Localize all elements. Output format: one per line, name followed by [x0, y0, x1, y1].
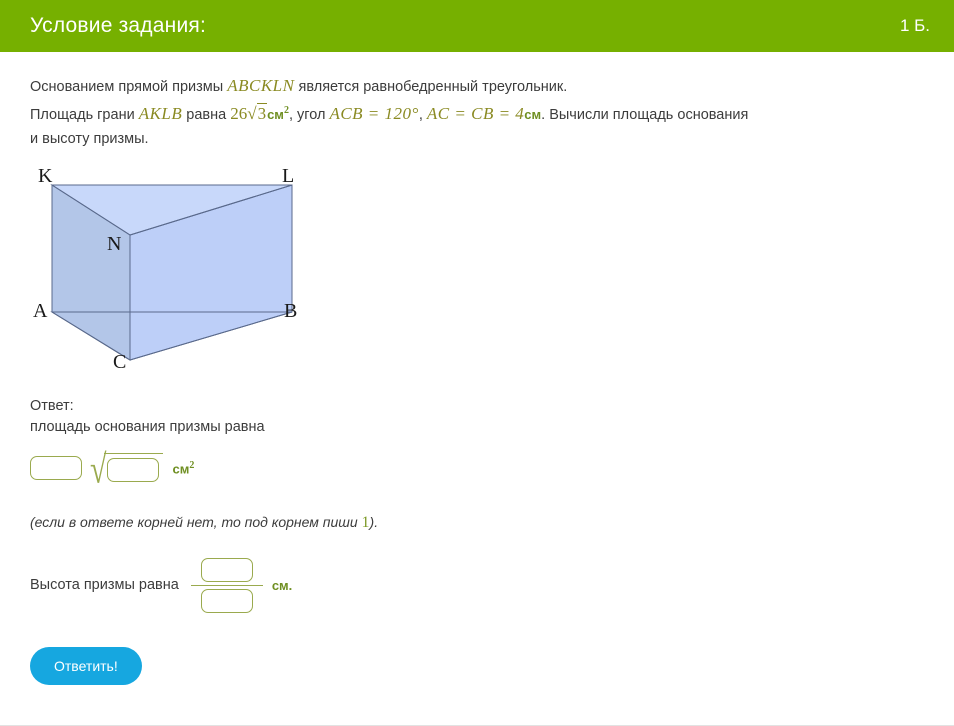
vertex-label-n: N: [107, 233, 121, 256]
page-title: Условие задания:: [30, 14, 206, 38]
base-area-unit-exponent: 2: [189, 460, 194, 471]
statement-line-2: Площадь грани AKLB равна 26√3см2, угол A…: [30, 99, 924, 127]
vertex-label-b: B: [284, 300, 297, 323]
statement-text: ,: [419, 107, 427, 123]
math-sides-ac-cb: AC = CB = 4: [427, 104, 524, 123]
statement-line-1: Основанием прямой призмы ABCKLN является…: [30, 74, 924, 99]
height-denominator-input[interactable]: [201, 589, 253, 613]
prism-figure: K L N A B C: [30, 165, 330, 380]
math-angle-acb: ACB = 120°: [329, 104, 418, 123]
score-badge: 1 Б.: [900, 16, 930, 36]
statement-text: Площадь грани: [30, 107, 139, 123]
base-area-coefficient-input[interactable]: [30, 456, 82, 480]
math-face-name: AKLB: [139, 104, 183, 123]
answer-subheading: площадь основания призмы равна: [30, 417, 924, 438]
height-label: Высота призмы равна: [30, 577, 179, 593]
math-sides-unit: см: [524, 107, 541, 122]
sqrt-symbol-icon: √3: [247, 103, 267, 123]
base-area-answer-row: √ см2: [30, 448, 924, 488]
vertex-label-a: A: [33, 300, 47, 323]
height-unit: см.: [272, 578, 292, 593]
math-area-radicand: 3: [257, 103, 268, 123]
sqrt-radicand-slot: [104, 453, 163, 482]
statement-text: равна: [182, 107, 230, 123]
height-answer-row: Высота призмы равна см.: [30, 558, 924, 613]
answer-note-text-a: (если в ответе корней нет, то под корнем…: [30, 514, 362, 530]
base-area-unit-text: см: [172, 461, 189, 476]
vertex-label-l: L: [282, 165, 294, 188]
answer-note-text-b: ).: [370, 514, 379, 530]
submit-answer-button[interactable]: Ответить!: [30, 647, 142, 685]
base-area-unit: см2: [172, 460, 194, 476]
statement-text: является равнобедренный треугольник.: [294, 79, 567, 95]
vertex-label-k: K: [38, 165, 52, 188]
task-header: Условие задания: 1 Б.: [0, 0, 954, 52]
statement-text: Основанием прямой призмы: [30, 79, 227, 95]
statement-line-3: и высоту призмы.: [30, 127, 924, 151]
answer-heading: Ответ:: [30, 396, 924, 417]
math-prism-name: ABCKLN: [227, 76, 294, 95]
sqrt-symbol-icon: √: [90, 453, 106, 488]
problem-statement: Основанием прямой призмы ABCKLN является…: [30, 52, 924, 151]
base-area-radicand-input[interactable]: [107, 458, 159, 482]
base-area-sqrt-group: √: [90, 453, 163, 482]
vertex-label-c: C: [113, 351, 126, 374]
fraction-bar: [191, 585, 263, 586]
prism-svg: [30, 165, 330, 380]
answer-section: Ответ: площадь основания призмы равна √ …: [30, 396, 924, 685]
height-fraction: [191, 558, 263, 613]
statement-text: , угол: [289, 107, 330, 123]
height-numerator-input[interactable]: [201, 558, 253, 582]
math-area-unit: см: [267, 107, 284, 122]
answer-note: (если в ответе корней нет, то под корнем…: [30, 514, 924, 532]
task-body: Основанием прямой призмы ABCKLN является…: [0, 52, 954, 726]
math-area-coefficient: 26: [230, 104, 247, 123]
answer-note-value: 1: [362, 514, 370, 531]
statement-text: . Вычисли площадь основания: [541, 107, 748, 123]
